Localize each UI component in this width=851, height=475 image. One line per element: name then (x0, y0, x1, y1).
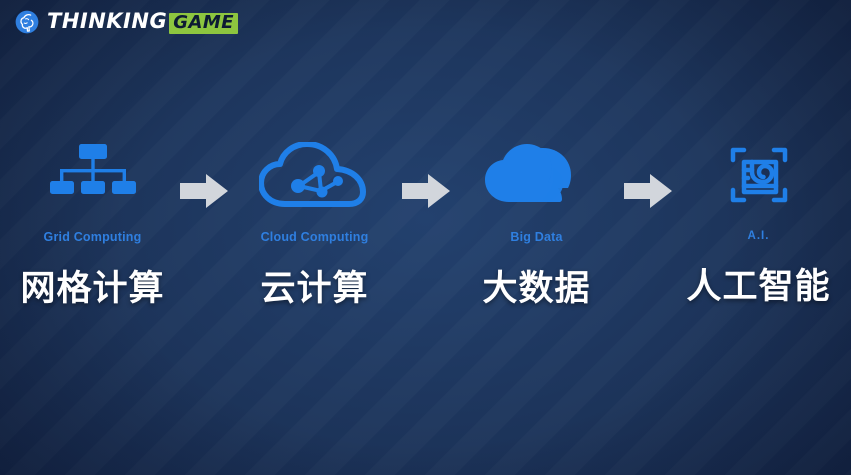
flow-step-title: 云计算 (260, 260, 368, 311)
grid-computing-icon (50, 140, 136, 218)
brand-name-primary: THINKING (47, 11, 167, 32)
process-flow: Grid Computing 网格计算 (0, 140, 851, 311)
flow-step-title: 网格计算 (20, 260, 164, 311)
arrow-right-icon-2 (398, 152, 454, 230)
flow-step-sublabel: Cloud Computing (261, 230, 369, 244)
brand-name-secondary: GAME (169, 13, 238, 34)
big-data-cloud-icon (483, 140, 591, 218)
artificial-intelligence-icon (724, 140, 794, 218)
flow-step-title: 大数据 (482, 260, 590, 311)
flow-step-grid-computing: Grid Computing 网格计算 (10, 140, 176, 311)
cloud-computing-icon (259, 140, 371, 218)
flow-step-sublabel: A.I. (748, 230, 770, 242)
brand-wordmark: THINKING GAME (47, 11, 238, 34)
brain-head-icon (14, 9, 40, 35)
arrow-right-icon-1 (176, 152, 232, 230)
flow-step-artificial-intelligence: A.I. 人工智能 (676, 140, 842, 309)
flow-step-title: 人工智能 (686, 258, 830, 309)
brand-logo: THINKING GAME (14, 9, 238, 35)
slide-canvas: THINKING GAME (0, 0, 851, 475)
flow-step-big-data: Big Data 大数据 (454, 140, 620, 311)
flow-step-cloud-computing: Cloud Computing 云计算 (232, 140, 398, 311)
flow-step-sublabel: Grid Computing (44, 230, 142, 244)
arrow-right-icon-3 (620, 152, 676, 230)
flow-step-sublabel: Big Data (510, 230, 562, 244)
